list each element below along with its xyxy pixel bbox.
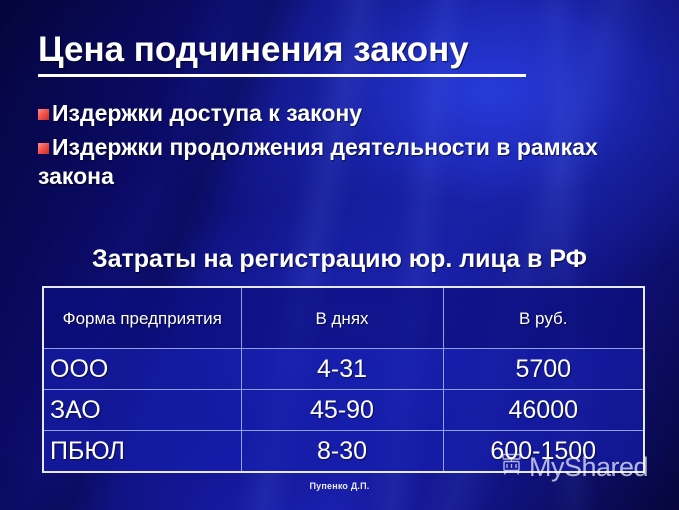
bullet-item: Издержки продолжения деятельности в рамк… <box>38 133 646 191</box>
table-header-form: Форма предприятия <box>43 287 241 349</box>
cell-rub: 46000 <box>443 390 644 431</box>
cell-days: 8-30 <box>241 431 443 473</box>
bullet-list: Издержки доступа к закону Издержки продо… <box>38 99 646 196</box>
red-square-bullet-icon <box>38 109 49 120</box>
cell-rub: 5700 <box>443 349 644 390</box>
slide-title: Цена подчинения закону <box>38 30 469 70</box>
table-row: ПБЮЛ 8-30 600-1500 <box>43 431 644 473</box>
table-header-rub: В руб. <box>443 287 644 349</box>
bullet-item-label: Издержки продолжения деятельности в рамк… <box>38 134 598 189</box>
table-header-days: В днях <box>241 287 443 349</box>
cell-form: ПБЮЛ <box>43 431 241 473</box>
registration-costs-table: Форма предприятия В днях В руб. ООО 4-31… <box>42 286 645 473</box>
bullet-item: Издержки доступа к закону <box>38 99 646 128</box>
table-header-row: Форма предприятия В днях В руб. <box>43 287 644 349</box>
slide-footer-author: Пупенко Д.П. <box>0 481 679 491</box>
cell-days: 45-90 <box>241 390 443 431</box>
title-underline <box>38 74 526 77</box>
cell-rub: 600-1500 <box>443 431 644 473</box>
red-square-bullet-icon <box>38 143 49 154</box>
table-row: ЗАО 45-90 46000 <box>43 390 644 431</box>
cell-form: ЗАО <box>43 390 241 431</box>
table-caption: Затраты на регистрацию юр. лица в РФ <box>0 245 679 274</box>
bullet-item-label: Издержки доступа к закону <box>52 100 362 126</box>
cell-form: ООО <box>43 349 241 390</box>
table-row: ООО 4-31 5700 <box>43 349 644 390</box>
cell-days: 4-31 <box>241 349 443 390</box>
presentation-slide: Цена подчинения закону Издержки доступа … <box>0 0 679 510</box>
